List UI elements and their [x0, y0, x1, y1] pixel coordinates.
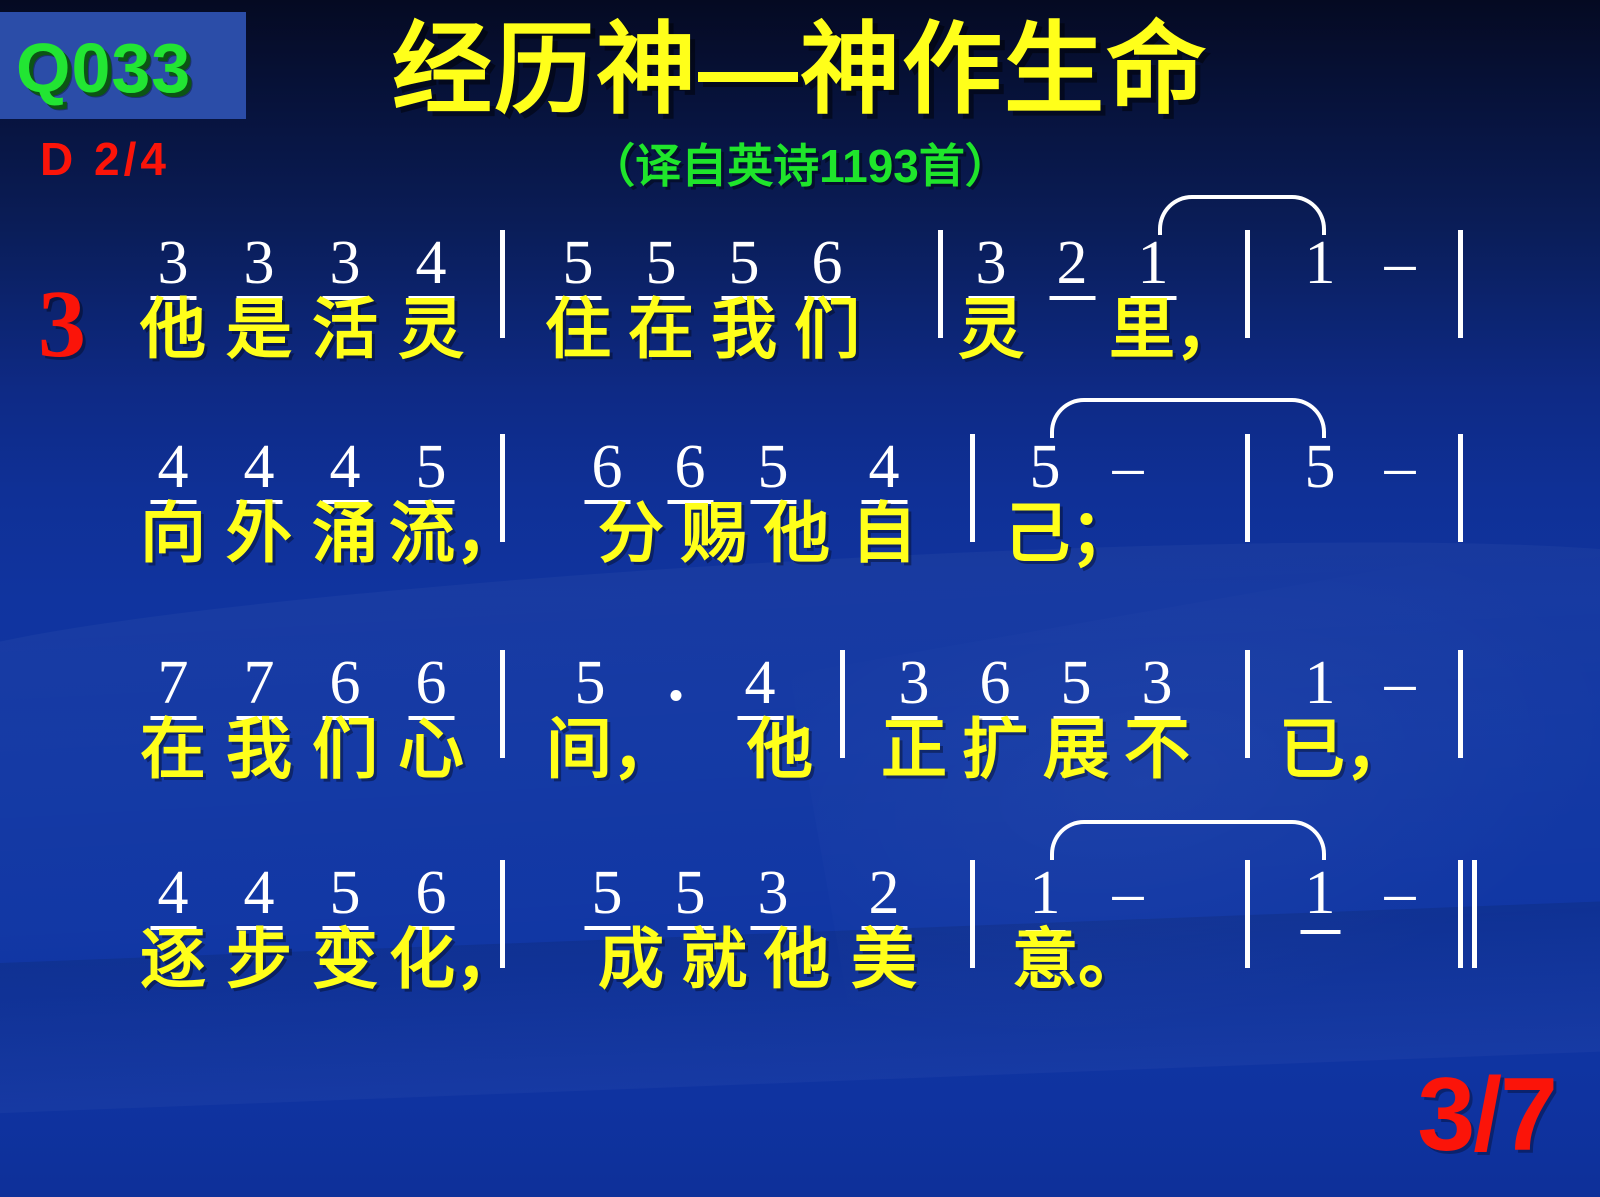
- note-digit: 3: [242, 232, 277, 294]
- lyric-syllable: 涌: [312, 500, 378, 566]
- barline: [500, 650, 505, 758]
- lyric-syllable: 不: [1124, 716, 1190, 782]
- note-5: 5: [673, 862, 708, 924]
- lyric-syllable: 意。: [1012, 926, 1144, 992]
- lyric-syllable: 化，: [389, 926, 521, 992]
- note-digit: 3: [974, 232, 1009, 294]
- note-4: 4: [414, 232, 449, 294]
- note-6: 6: [978, 652, 1013, 714]
- barline: [1245, 434, 1250, 542]
- note-4: 4: [328, 436, 363, 498]
- note-digit: 4: [743, 652, 778, 714]
- music-system: 4445665455––向外涌流，分赐他自己；: [0, 432, 1600, 637]
- page-indicator: 3/7: [1417, 1056, 1556, 1175]
- note-digit: 4: [328, 436, 363, 498]
- note-3: 3: [756, 862, 791, 924]
- note-5: 5: [573, 652, 608, 714]
- note-digit: 3: [756, 862, 791, 924]
- music-system: 4456553211––逐步变化，成就他美意。: [0, 858, 1600, 1063]
- note-5: 5: [590, 862, 625, 924]
- note-digit: 1: [1028, 862, 1063, 924]
- note-digit: 7: [156, 652, 191, 714]
- key-and-meter-label: D 2/4: [40, 132, 170, 186]
- note-digit: 4: [242, 862, 277, 924]
- note-digit: 5: [573, 652, 608, 714]
- note-digit: 1: [1303, 652, 1338, 714]
- note-4: 4: [156, 862, 191, 924]
- note-digit: 6: [673, 436, 708, 498]
- note-4: 4: [743, 652, 778, 714]
- sustain-dash: –: [1113, 862, 1144, 924]
- note-digit: 4: [156, 436, 191, 498]
- note-digit: 5: [644, 232, 679, 294]
- note-5: 5: [644, 232, 679, 294]
- note-5: 5: [1059, 652, 1094, 714]
- barline: [970, 434, 975, 542]
- lyric-syllable: 成: [598, 926, 664, 992]
- barline: [1458, 434, 1463, 542]
- note-digit: 1: [1303, 232, 1338, 294]
- barline: [938, 230, 943, 338]
- note-digit: 5: [561, 232, 596, 294]
- lyric-syllable: 灵: [398, 296, 464, 362]
- note-1: 1: [1303, 652, 1338, 714]
- music-system: 77665436531–在我们心间，他正扩展不已，: [0, 648, 1600, 853]
- note-digit: 6: [328, 652, 363, 714]
- note-6: 6: [590, 436, 625, 498]
- lyric-syllable: 展: [1043, 716, 1109, 782]
- lyric-syllable: 间，: [546, 716, 678, 782]
- lyric-syllable: 我: [226, 716, 292, 782]
- note-7: 7: [242, 652, 277, 714]
- note-digit: 4: [156, 862, 191, 924]
- sustain-dash: –: [1113, 436, 1144, 498]
- note-digit: 3: [156, 232, 191, 294]
- hymn-slide: Q033 D 2/4 经历神—神作生命 （译自英诗1193首） 3 333455…: [0, 0, 1600, 1197]
- sustain-dash: –: [1385, 652, 1416, 714]
- note-6: 6: [414, 862, 449, 924]
- note-digit: 6: [414, 862, 449, 924]
- barline: [1458, 230, 1463, 338]
- barline: [1245, 650, 1250, 758]
- note-digit: 5: [328, 862, 363, 924]
- lyric-syllable: 他: [747, 716, 813, 782]
- lyric-syllable: 步: [226, 926, 292, 992]
- note-5: 5: [561, 232, 596, 294]
- barline: [1458, 650, 1463, 758]
- barline: [1245, 860, 1250, 968]
- note-4: 4: [242, 436, 277, 498]
- note-5: 5: [1303, 436, 1338, 498]
- barline: [500, 230, 505, 338]
- lyric-syllable: 住: [545, 296, 611, 362]
- note-digit: 3: [897, 652, 932, 714]
- note-digit: 4: [414, 232, 449, 294]
- lyric-syllable: 向: [140, 500, 206, 566]
- hymn-code-label: Q033: [16, 28, 191, 108]
- lyric-syllable: 正: [881, 716, 947, 782]
- lyric-syllable: 里，: [1109, 296, 1241, 362]
- note-digit: 3: [328, 232, 363, 294]
- note-1: 1: [1303, 232, 1338, 294]
- note-4: 4: [867, 436, 902, 498]
- page-title: 经历神—神作生命: [295, 18, 1305, 123]
- note-3: 3: [328, 232, 363, 294]
- lyric-syllable: 已，: [1279, 716, 1411, 782]
- lyric-syllable: 活: [312, 296, 378, 362]
- note-digit: 1: [1136, 232, 1171, 294]
- note-6: 6: [328, 652, 363, 714]
- note-digit: 2: [867, 862, 902, 924]
- lyric-syllable: 在: [628, 296, 694, 362]
- note-2: 2: [1055, 232, 1090, 294]
- note-digit: 3: [1140, 652, 1175, 714]
- note-digit: 5: [414, 436, 449, 498]
- note-digit: 6: [590, 436, 625, 498]
- note-digit: 6: [810, 232, 845, 294]
- lyric-syllable: 赐: [681, 500, 747, 566]
- note-digit: 5: [1303, 436, 1338, 498]
- note-5: 5: [414, 436, 449, 498]
- note-1: 1: [1303, 862, 1338, 924]
- sustain-dash: –: [1385, 862, 1416, 924]
- note-digit: 5: [756, 436, 791, 498]
- final-double-barline: [1458, 860, 1463, 968]
- tie-slur: [1050, 398, 1326, 438]
- note-1: 1: [1136, 232, 1171, 294]
- note-6: 6: [810, 232, 845, 294]
- note-digit: 6: [414, 652, 449, 714]
- lyric-syllable: 就: [681, 926, 747, 992]
- page-subtitle: （译自英诗1193首）: [295, 130, 1305, 196]
- note-5: 5: [328, 862, 363, 924]
- note-5: 5: [727, 232, 762, 294]
- note-3: 3: [156, 232, 191, 294]
- augmentation-dot: [671, 690, 682, 701]
- note-1: 1: [1028, 862, 1063, 924]
- lyric-syllable: 扩: [962, 716, 1028, 782]
- note-digit: 6: [978, 652, 1013, 714]
- lyric-syllable: 心: [398, 716, 464, 782]
- note-digit: 5: [1059, 652, 1094, 714]
- note-3: 3: [974, 232, 1009, 294]
- lyric-syllable: 己；: [1004, 500, 1136, 566]
- barline: [840, 650, 845, 758]
- barline: [970, 860, 975, 968]
- note-digit: 2: [1055, 232, 1090, 294]
- barline: [1245, 230, 1250, 338]
- lyric-syllable: 他: [764, 500, 830, 566]
- note-3: 3: [1140, 652, 1175, 714]
- note-digit: 1: [1303, 862, 1338, 924]
- lyric-syllable: 自: [851, 500, 917, 566]
- lyric-syllable: 外: [226, 500, 292, 566]
- lyric-syllable: 灵: [958, 296, 1024, 362]
- lyric-syllable: 我: [711, 296, 777, 362]
- note-4: 4: [242, 862, 277, 924]
- note-3: 3: [242, 232, 277, 294]
- sustain-dash: –: [1385, 436, 1416, 498]
- note-5: 5: [756, 436, 791, 498]
- note-digit: 4: [242, 436, 277, 498]
- note-digit: 5: [1028, 436, 1063, 498]
- lyric-syllable: 他: [764, 926, 830, 992]
- tie-slur: [1050, 820, 1326, 860]
- note-6: 6: [414, 652, 449, 714]
- lyric-syllable: 们: [794, 296, 860, 362]
- note-digit: 5: [590, 862, 625, 924]
- lyric-syllable: 美: [851, 926, 917, 992]
- sustain-dash: –: [1385, 232, 1416, 294]
- note-digit: 7: [242, 652, 277, 714]
- lyric-syllable: 变: [312, 926, 378, 992]
- lyric-syllable: 他: [140, 296, 206, 362]
- music-system: 333455563211–他是活灵住在我们灵里，: [0, 228, 1600, 433]
- note-5: 5: [1028, 436, 1063, 498]
- note-digit: 5: [673, 862, 708, 924]
- note-2: 2: [867, 862, 902, 924]
- lyric-syllable: 逐: [140, 926, 206, 992]
- note-digit: 4: [867, 436, 902, 498]
- lyric-syllable: 在: [140, 716, 206, 782]
- lyric-syllable: 们: [312, 716, 378, 782]
- tie-slur: [1158, 195, 1326, 235]
- lyric-syllable: 分: [598, 500, 664, 566]
- note-7: 7: [156, 652, 191, 714]
- hymn-code-box: Q033: [0, 12, 246, 119]
- note-3: 3: [897, 652, 932, 714]
- note-6: 6: [673, 436, 708, 498]
- lyric-syllable: 是: [226, 296, 292, 362]
- note-digit: 5: [727, 232, 762, 294]
- lyric-syllable: 流，: [389, 500, 521, 566]
- note-4: 4: [156, 436, 191, 498]
